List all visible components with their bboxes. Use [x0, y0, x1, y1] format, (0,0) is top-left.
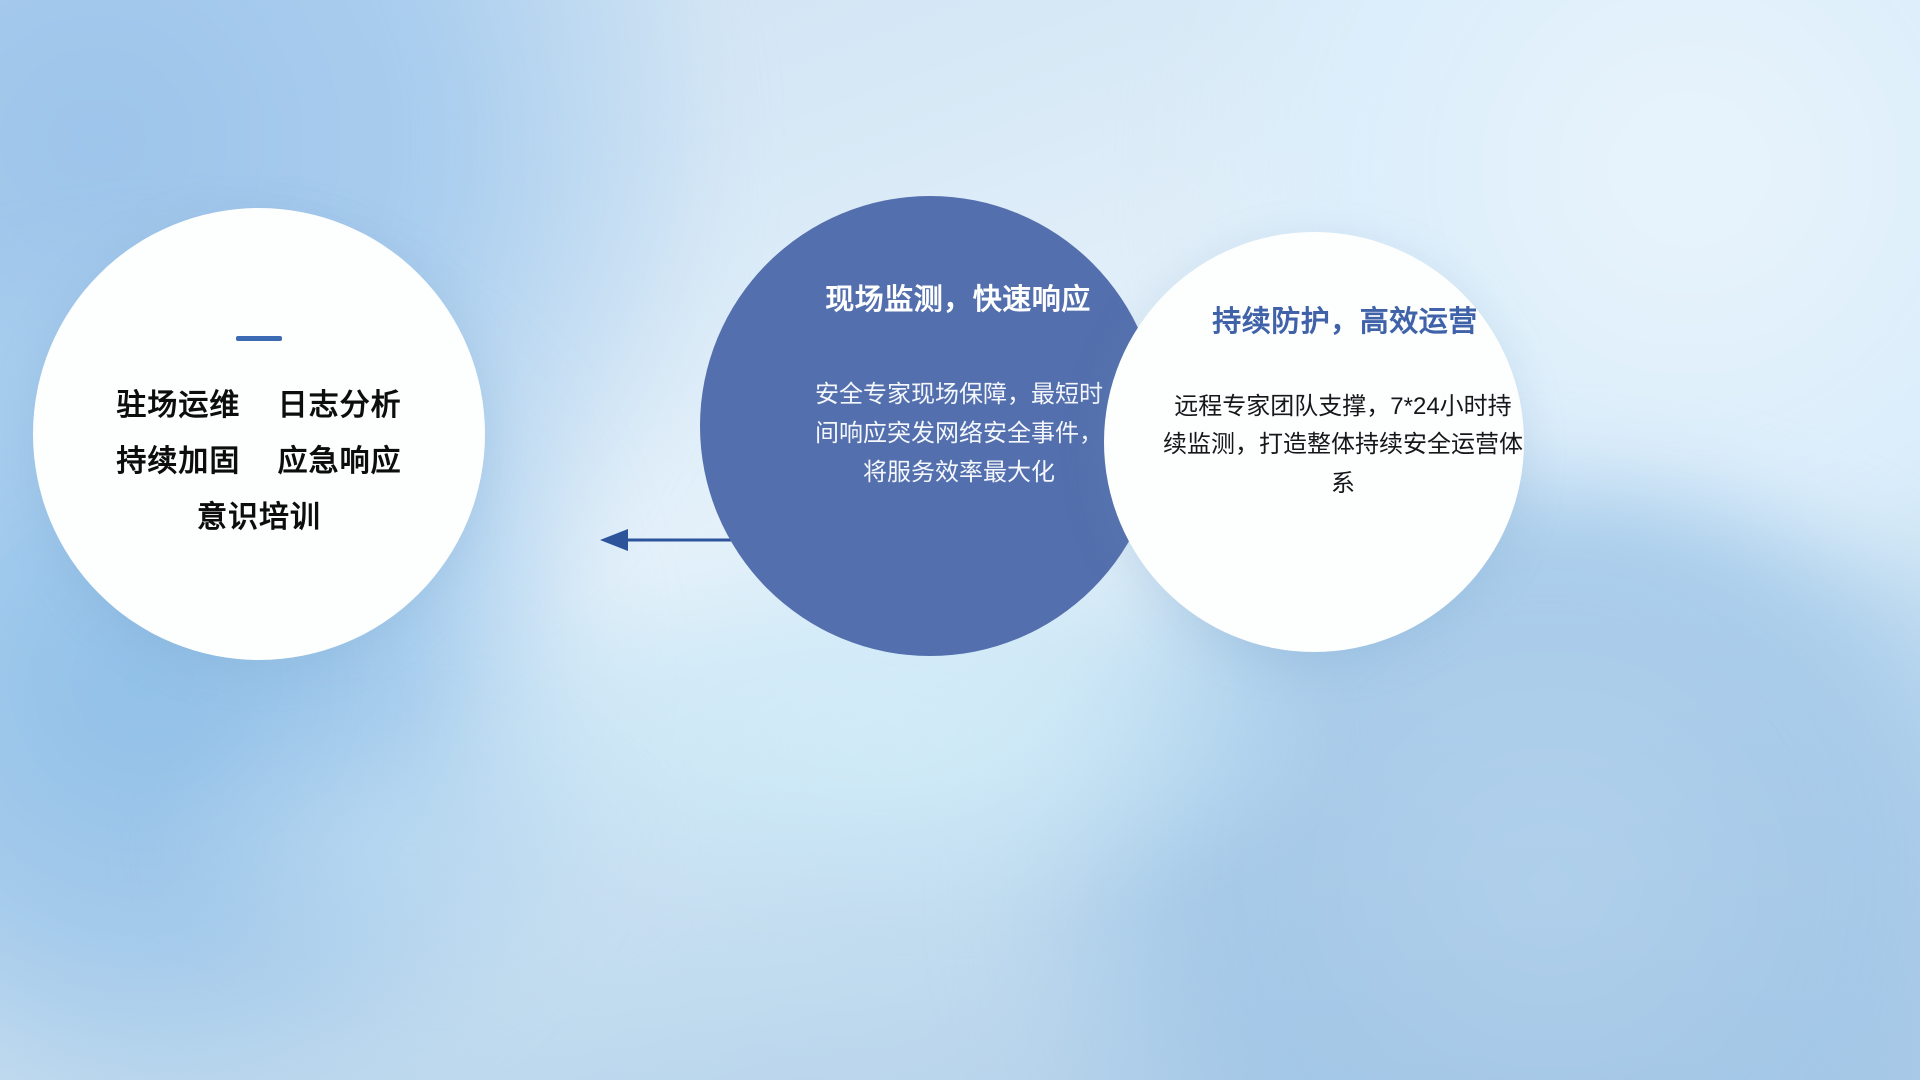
list-item: 意识培训 — [197, 503, 321, 533]
right-circle-body: 远程专家团队支撑，7*24小时持续监测，打造整体持续安全运营体系 — [1163, 388, 1523, 503]
arrow-left-icon — [600, 529, 628, 551]
feature-circle-right: 持续防护，高效运营 远程专家团队支撑，7*24小时持续监测，打造整体持续安全运营… — [1104, 232, 1524, 652]
middle-circle-body: 安全专家现场保障，最短时间响应突发网络安全事件，将服务效率最大化 — [809, 376, 1109, 493]
divider-dash — [236, 336, 282, 341]
list-item: 驻场运维 日志分析 — [116, 391, 401, 421]
right-circle-title: 持续防护，高效运营 — [1212, 298, 1478, 340]
feature-circle-middle: 现场监测，快速响应 安全专家现场保障，最短时间响应突发网络安全事件，将服务效率最… — [700, 196, 1160, 656]
middle-circle-title: 现场监测，快速响应 — [825, 276, 1091, 318]
list-item: 持续加固 应急响应 — [116, 447, 401, 477]
capability-list: 驻场运维 日志分析 持续加固 应急响应 意识培训 — [116, 391, 401, 533]
capability-circle-left: 驻场运维 日志分析 持续加固 应急响应 意识培训 — [33, 208, 485, 660]
